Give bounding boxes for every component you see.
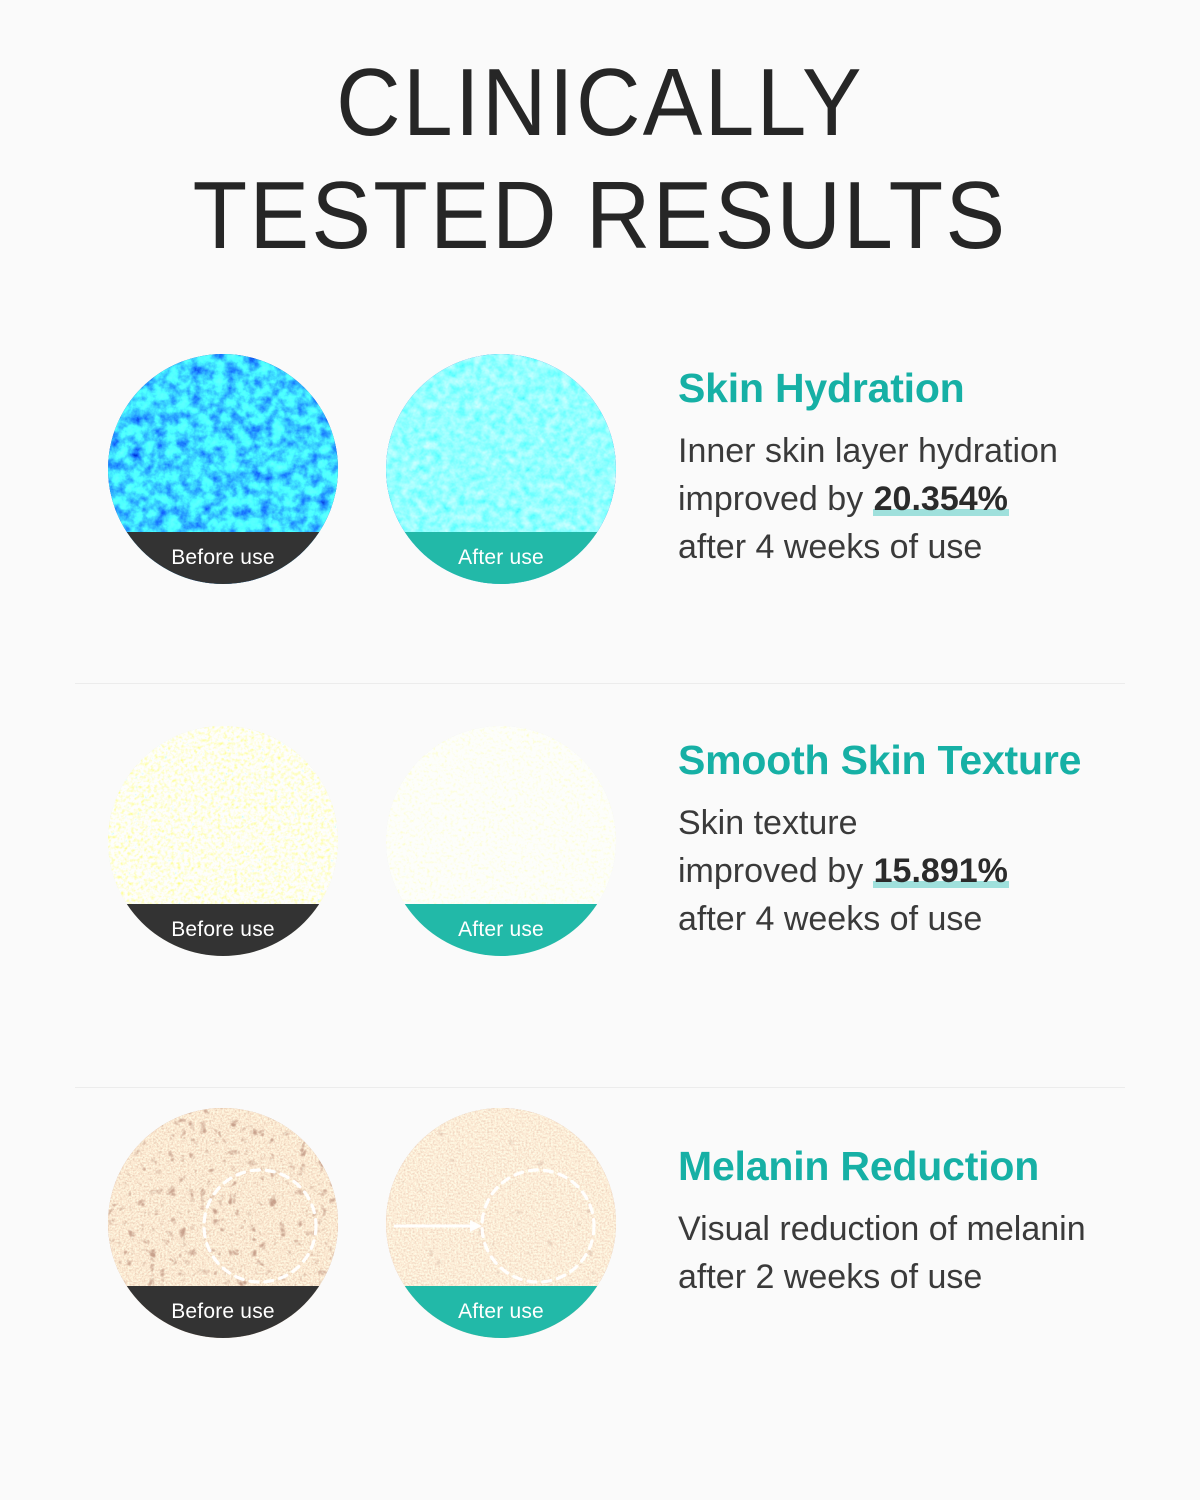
body-smooth-skin-texture: Skin texture improved by 15.891% after 4…	[678, 799, 1160, 944]
body-line-1: Inner skin layer hydration	[678, 432, 1058, 470]
comparison-images-hydration: Before use	[108, 354, 616, 584]
after-use-caption: After use	[386, 532, 616, 584]
heading-melanin-reduction: Melanin Reduction	[678, 1144, 1160, 1189]
metric-skin-hydration: 20.354%	[873, 480, 1009, 518]
after-use-caption: After use	[386, 904, 616, 956]
page-title-line-1: CLINICALLY	[42, 46, 1158, 159]
after-image-hydration: After use	[386, 354, 616, 584]
before-use-caption: Before use	[108, 904, 338, 956]
body-line-3: after 4 weeks of use	[678, 900, 982, 938]
body-skin-hydration: Inner skin layer hydration improved by 2…	[678, 427, 1160, 572]
body-melanin-reduction: Visual reduction of melanin after 2 week…	[678, 1205, 1160, 1302]
heading-smooth-skin-texture: Smooth Skin Texture	[678, 738, 1160, 783]
body-line-2-prefix: improved by	[678, 480, 873, 518]
before-image-melanin: Before use	[108, 1108, 338, 1338]
body-line-1: Skin texture	[678, 804, 858, 842]
after-image-melanin: After use	[386, 1108, 616, 1338]
comparison-images-texture: Before use	[108, 726, 616, 956]
text-skin-hydration: Skin Hydration Inner skin layer hydratio…	[616, 366, 1200, 572]
after-image-texture: After use	[386, 726, 616, 956]
page-title-line-2: TESTED RESULTS	[42, 159, 1158, 272]
before-use-caption: Before use	[108, 1286, 338, 1338]
before-image-texture: Before use	[108, 726, 338, 956]
after-use-caption: After use	[386, 1286, 616, 1338]
body-line-1: Visual reduction of melanin	[678, 1210, 1086, 1248]
body-line-2-prefix: improved by	[678, 852, 873, 890]
results-sections: Before use	[0, 299, 1200, 1403]
body-line-3: after 2 weeks of use	[678, 1258, 982, 1296]
section-melanin-reduction: Before use	[0, 1043, 1200, 1403]
before-image-hydration: Before use	[108, 354, 338, 584]
infographic-page: CLINICALLY TESTED RESULTS	[0, 0, 1200, 1500]
text-smooth-skin-texture: Smooth Skin Texture Skin texture improve…	[616, 738, 1200, 944]
section-skin-hydration: Before use	[0, 299, 1200, 639]
before-use-caption: Before use	[108, 532, 338, 584]
heading-skin-hydration: Skin Hydration	[678, 366, 1160, 411]
page-title: CLINICALLY TESTED RESULTS	[0, 0, 1200, 273]
section-smooth-skin-texture: Before use	[0, 639, 1200, 1043]
text-melanin-reduction: Melanin Reduction Visual reduction of me…	[616, 1144, 1200, 1302]
body-line-3: after 4 weeks of use	[678, 528, 982, 566]
comparison-images-melanin: Before use	[108, 1108, 616, 1338]
metric-smooth-skin-texture: 15.891%	[873, 852, 1009, 890]
